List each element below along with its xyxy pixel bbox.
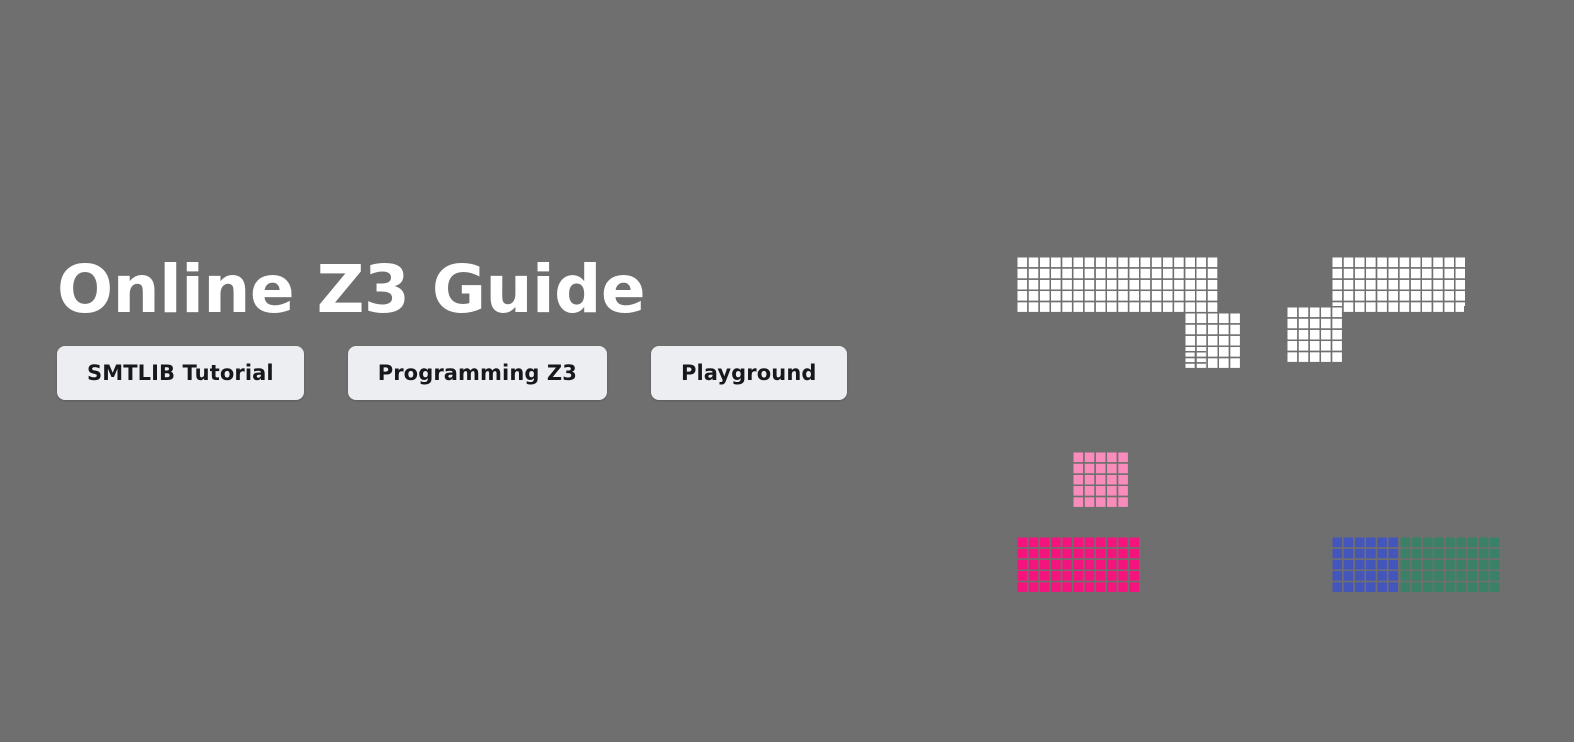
logo-block-bottom-bar-blue [1331,536,1399,592]
logo-block-mid-bar-blue [1331,401,1431,457]
logo-block-top-left-arm [1286,306,1342,362]
hero-section: Online Z3 Guide SMTLIB Tutorial Programm… [0,0,1574,742]
cta-button-row: SMTLIB Tutorial Programming Z3 Playgroun… [57,346,977,400]
smtlib-tutorial-button[interactable]: SMTLIB Tutorial [57,346,304,400]
logo-block-base-bar-blue [1139,536,1241,592]
logo-block-right-upper-col [1464,306,1520,396]
logo-block-step-2 [1106,401,1162,457]
logo-glyph-three [1286,256,1520,592]
page-title: Online Z3 Guide [57,255,977,324]
logo-block-bottom-bar-green [1399,536,1500,592]
z3-logo [1016,256,1520,592]
logo-glyph-seven [1016,256,1248,592]
logo-block-top-bar [1331,256,1465,312]
logo-block-base-bar-pink [1016,536,1139,592]
logo-block-step-3 [1072,451,1128,507]
playground-button[interactable]: Playground [651,346,847,400]
logo-block-top-bar [1016,256,1218,312]
programming-z3-button[interactable]: Programming Z3 [348,346,607,400]
logo-block-mid-bar-green [1431,401,1499,457]
hero-text-block: Online Z3 Guide SMTLIB Tutorial Programm… [57,255,977,400]
logo-block-step-1 [1150,351,1206,407]
